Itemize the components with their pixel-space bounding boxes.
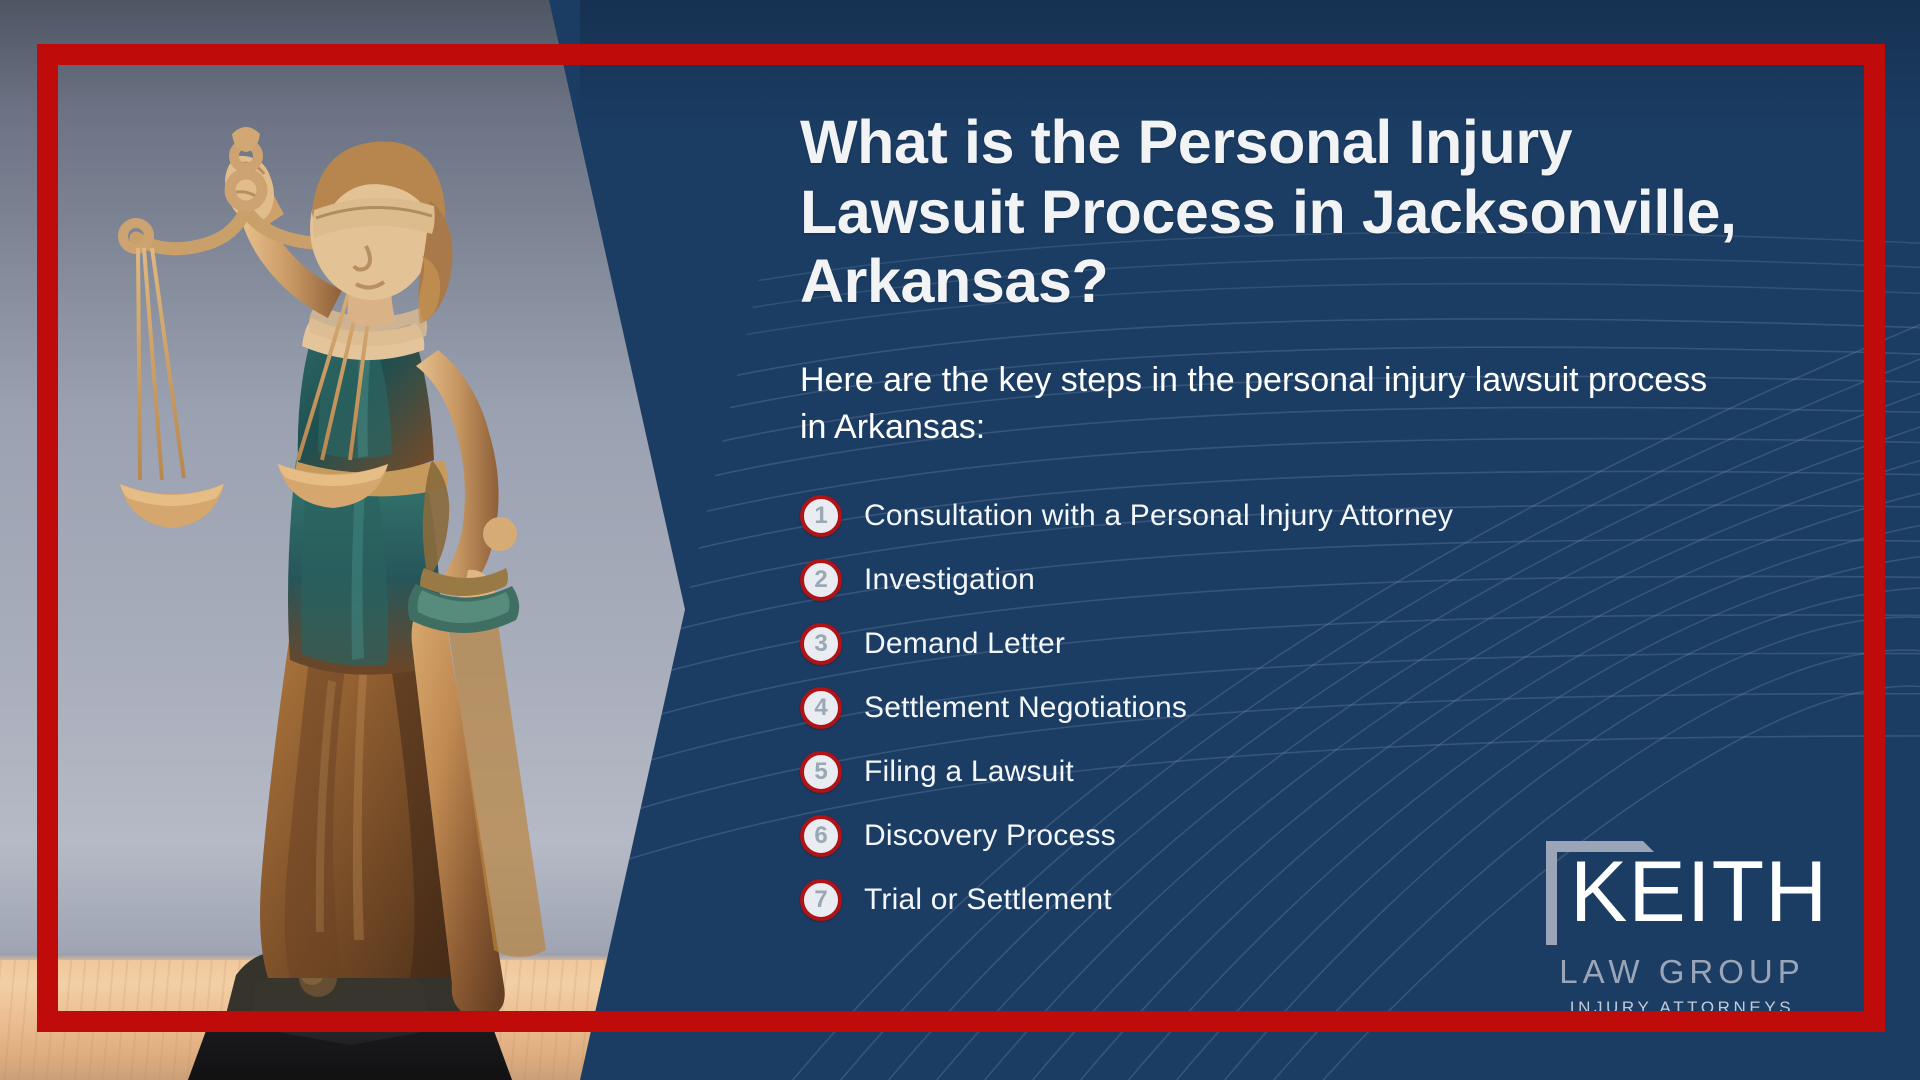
logo-mark: KEITH: [1532, 841, 1832, 951]
step-label: Consultation with a Personal Injury Atto…: [864, 499, 1453, 533]
page-title: What is the Personal Injury Lawsuit Proc…: [800, 108, 1740, 317]
step-number-badge: 7: [800, 879, 842, 921]
logo-tagline: INJURY ATTORNEYS: [1532, 998, 1832, 1018]
step-number-badge: 2: [800, 559, 842, 601]
list-item: 4 Settlement Negotiations: [800, 686, 1740, 730]
list-item: 2 Investigation: [800, 558, 1740, 602]
step-number-badge: 1: [800, 495, 842, 537]
logo-subtitle: LAW GROUP: [1532, 953, 1832, 991]
logo-wordmark: KEITH: [1570, 849, 1828, 935]
step-label: Trial or Settlement: [864, 883, 1112, 917]
step-number-badge: 3: [800, 623, 842, 665]
step-label: Discovery Process: [864, 819, 1116, 853]
step-number-badge: 5: [800, 751, 842, 793]
list-item: 3 Demand Letter: [800, 622, 1740, 666]
keith-law-group-logo: KEITH LAW GROUP INJURY ATTORNEYS: [1532, 841, 1832, 1018]
content-column: What is the Personal Injury Lawsuit Proc…: [800, 108, 1740, 942]
step-number-badge: 4: [800, 687, 842, 729]
step-number-badge: 6: [800, 815, 842, 857]
step-label: Investigation: [864, 563, 1035, 597]
step-label: Settlement Negotiations: [864, 691, 1187, 725]
subheading: Here are the key steps in the personal i…: [800, 357, 1740, 451]
list-item: 5 Filing a Lawsuit: [800, 750, 1740, 794]
infographic-stage: What is the Personal Injury Lawsuit Proc…: [0, 0, 1920, 1080]
step-label: Filing a Lawsuit: [864, 755, 1074, 789]
step-label: Demand Letter: [864, 627, 1065, 661]
list-item: 1 Consultation with a Personal Injury At…: [800, 494, 1740, 538]
lady-justice-statue: [60, 60, 640, 1080]
